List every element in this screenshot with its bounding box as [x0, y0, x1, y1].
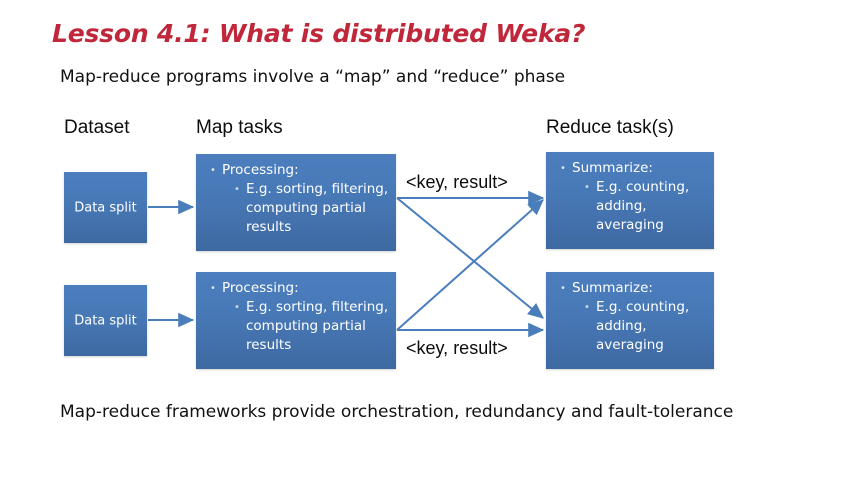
bullet-level2: • E.g. sorting, filtering, computing par… — [228, 298, 392, 355]
bullet-level2: • E.g. sorting, filtering, computing par… — [228, 180, 392, 237]
bullet-level1-text: Summarize: — [572, 279, 710, 298]
bullet-level1-text: Processing: — [222, 161, 392, 180]
bullet-level2-text: E.g. counting, adding, averaging — [596, 178, 710, 235]
bullet-dot-icon: • — [204, 279, 222, 298]
column-heading-reduce-tasks: Reduce task(s) — [546, 117, 674, 139]
data-split-box[interactable]: Data split — [64, 285, 147, 356]
bullet-dot-icon: • — [204, 161, 222, 180]
bullet-level1: • Summarize: — [554, 279, 710, 298]
bullet-level1-text: Processing: — [222, 279, 392, 298]
bullet-level2: • E.g. counting, adding, averaging — [578, 298, 710, 355]
bullet-level1: • Processing: — [204, 279, 392, 298]
bullet-dot-icon: • — [228, 298, 246, 317]
bullet-level1: • Summarize: — [554, 159, 710, 178]
bullet-level2: • E.g. counting, adding, averaging — [578, 178, 710, 235]
bullet-dot-icon: • — [228, 180, 246, 199]
column-heading-dataset: Dataset — [64, 117, 129, 139]
bullet-dot-icon: • — [554, 279, 572, 298]
map-task-box[interactable]: • Processing: • E.g. sorting, filtering,… — [196, 154, 396, 251]
data-split-box[interactable]: Data split — [64, 172, 147, 243]
reduce-task-bullets: • Summarize: • E.g. counting, adding, av… — [554, 159, 710, 235]
edge-label-key-result: <key, result> — [406, 172, 508, 193]
bullet-dot-icon: • — [554, 159, 572, 178]
edge-label-key-result: <key, result> — [406, 338, 508, 359]
page-title: Lesson 4.1: What is distributed Weka? — [52, 19, 585, 48]
bullet-dot-icon: • — [578, 298, 596, 317]
bullet-level2-text: E.g. counting, adding, averaging — [596, 298, 710, 355]
bullet-level2-text: E.g. sorting, filtering, computing parti… — [246, 298, 392, 355]
reduce-task-box[interactable]: • Summarize: • E.g. counting, adding, av… — [546, 152, 714, 249]
outro-text: Map-reduce frameworks provide orchestrat… — [60, 402, 733, 422]
bullet-dot-icon: • — [578, 178, 596, 197]
bullet-level1: • Processing: — [204, 161, 392, 180]
data-split-label: Data split — [64, 313, 147, 328]
data-split-label: Data split — [64, 200, 147, 215]
bullet-level2-text: E.g. sorting, filtering, computing parti… — [246, 180, 392, 237]
map-task-bullets: • Processing: • E.g. sorting, filtering,… — [204, 279, 392, 355]
map-task-bullets: • Processing: • E.g. sorting, filtering,… — [204, 161, 392, 237]
reduce-task-bullets: • Summarize: • E.g. counting, adding, av… — [554, 279, 710, 355]
map-task-box[interactable]: • Processing: • E.g. sorting, filtering,… — [196, 272, 396, 369]
bullet-level1-text: Summarize: — [572, 159, 710, 178]
reduce-task-box[interactable]: • Summarize: • E.g. counting, adding, av… — [546, 272, 714, 369]
slide-canvas: Lesson 4.1: What is distributed Weka? Ma… — [0, 0, 854, 480]
intro-text: Map-reduce programs involve a “map” and … — [60, 67, 565, 87]
column-heading-map-tasks: Map tasks — [196, 117, 283, 139]
